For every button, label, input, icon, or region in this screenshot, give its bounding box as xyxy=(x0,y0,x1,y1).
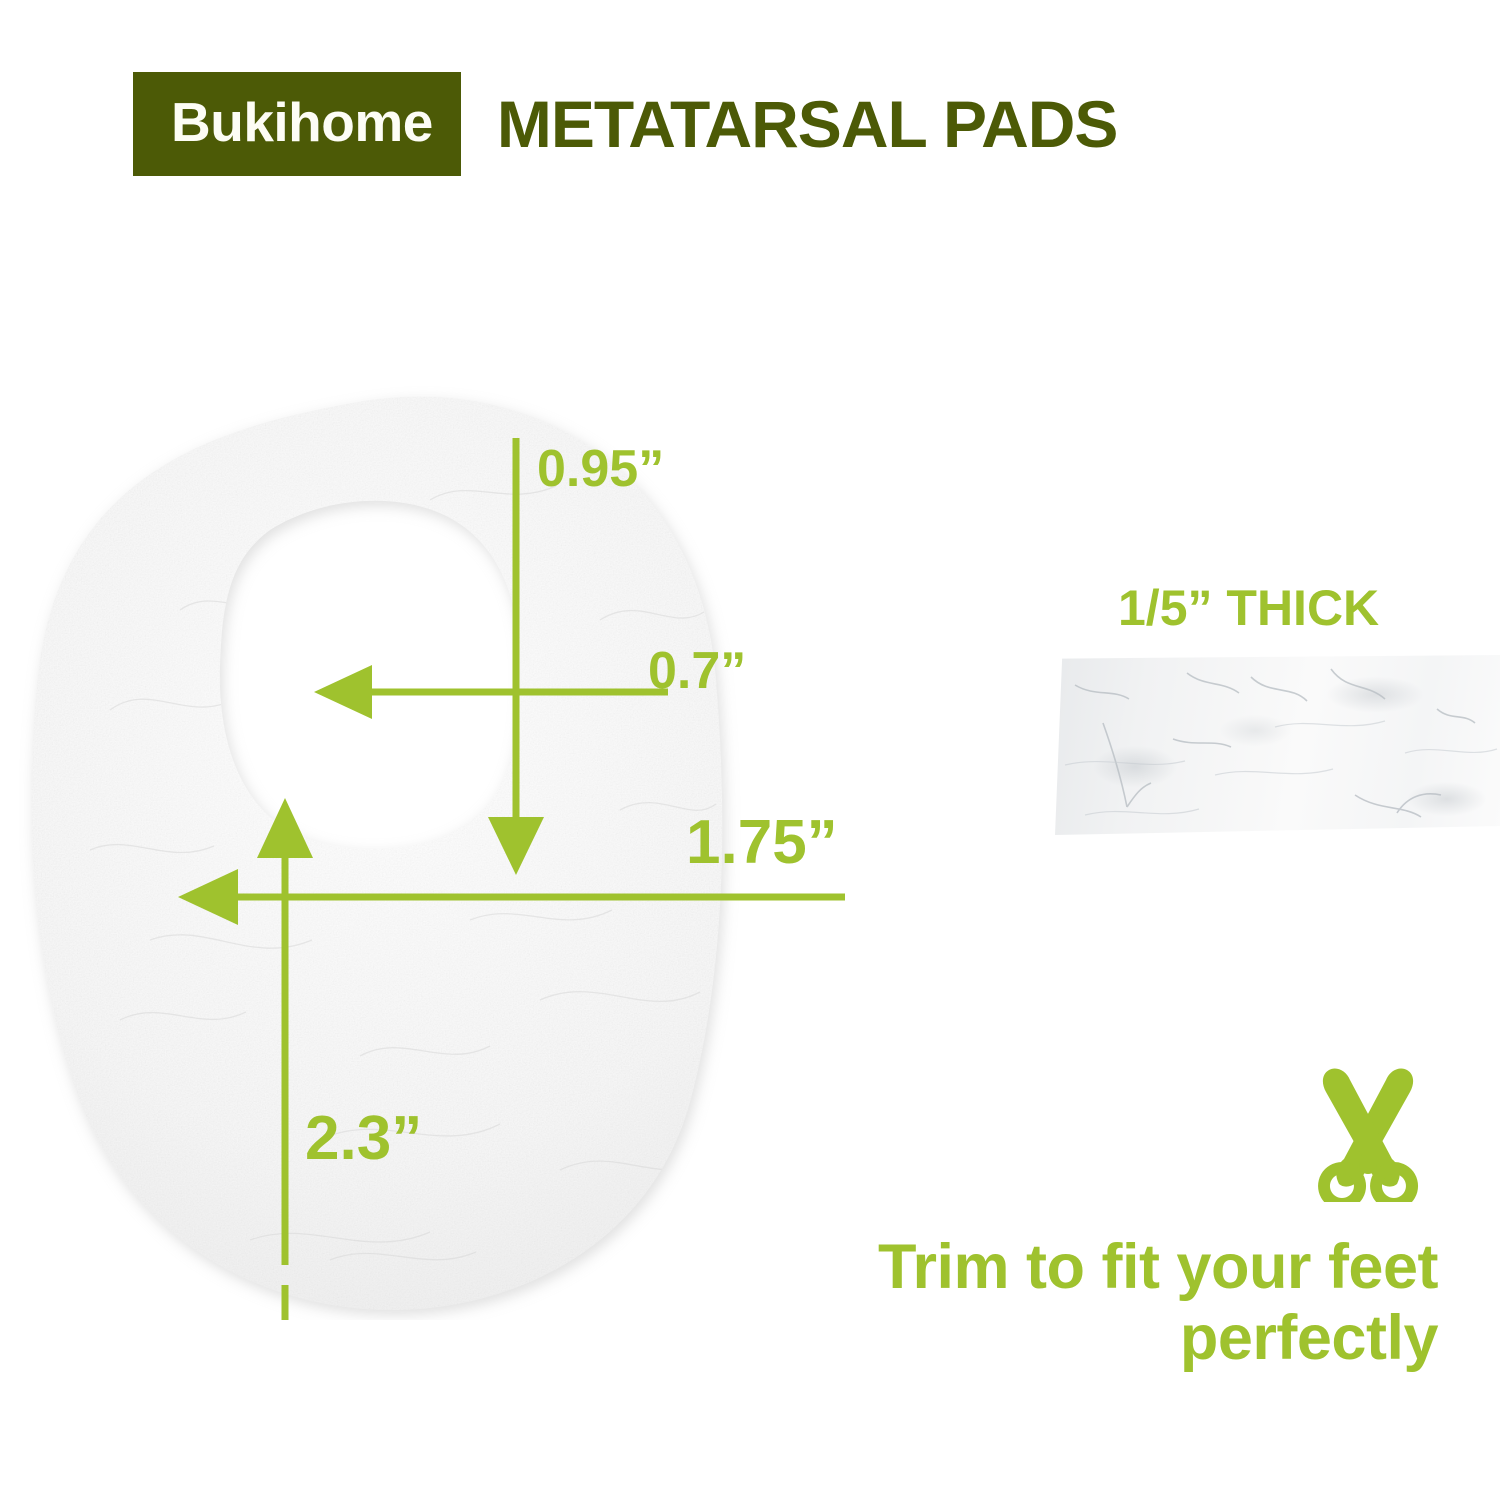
brand-badge: Bukihome xyxy=(133,72,461,176)
dimension-label-pad-height: 2.3” xyxy=(305,1108,422,1170)
pad-diagram: 0.95” 0.7” 1.75” 2.3” xyxy=(0,380,900,1320)
page-title: METATARSAL PADS xyxy=(497,91,1118,157)
dimension-label-pad-width: 1.75” xyxy=(686,812,838,874)
header: Bukihome METATARSAL PADS xyxy=(133,72,1117,176)
scissors-icon xyxy=(1308,1062,1428,1202)
product-infographic: Bukihome METATARSAL PADS xyxy=(0,0,1500,1500)
trim-instruction-line-2: perfectly xyxy=(738,1303,1438,1374)
trim-instruction: Trim to fit your feet perfectly xyxy=(738,1232,1438,1374)
dimension-label-hole-width: 0.7” xyxy=(648,645,746,697)
thickness-strip-sample xyxy=(1055,655,1500,835)
thickness-label: 1/5” THICK xyxy=(1118,583,1379,633)
strip-fibers xyxy=(1055,655,1500,835)
dimension-label-hole-height: 0.95” xyxy=(537,443,664,495)
trim-instruction-line-1: Trim to fit your feet xyxy=(738,1232,1438,1303)
